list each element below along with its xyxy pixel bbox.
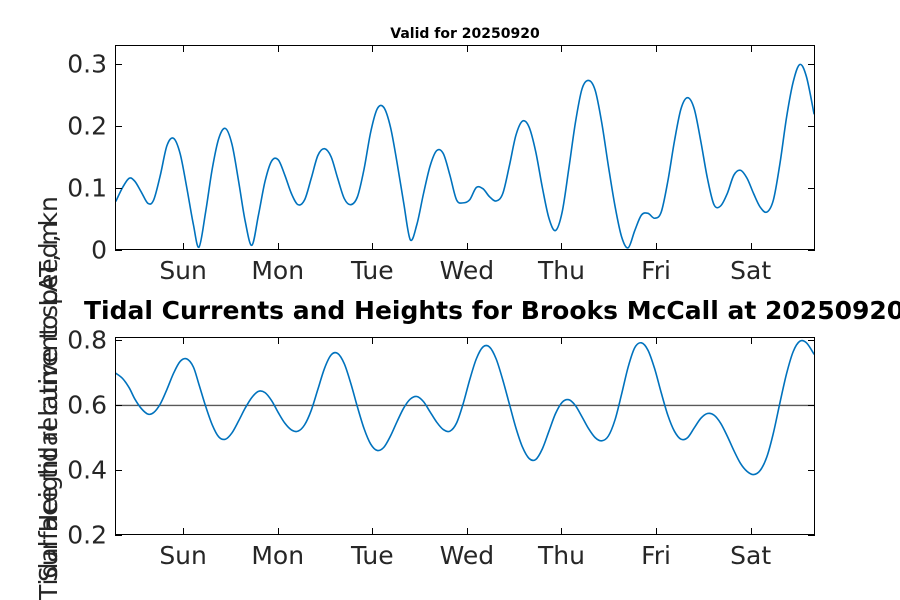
y-tick-mark xyxy=(808,535,815,536)
y-tick-label: 0.4 xyxy=(0,456,107,485)
y-tick-label: 0.8 xyxy=(0,326,107,355)
x-tick-label: Fri xyxy=(641,541,671,570)
y-tick-mark xyxy=(808,250,815,251)
x-tick-label: Mon xyxy=(251,541,304,570)
current-speed-x-tick-labels: SunMonTueWedThuFriSat xyxy=(115,256,815,290)
tidal-height-y-tick-labels: 0.20.40.60.8 xyxy=(0,337,107,535)
y-tick-mark xyxy=(115,250,122,251)
y-tick-label: 0.1 xyxy=(0,173,107,202)
y-tick-label: 0.2 xyxy=(0,111,107,140)
x-tick-label: Fri xyxy=(641,256,671,285)
current-speed-plot-area xyxy=(116,46,814,249)
x-tick-label: Thu xyxy=(538,541,585,570)
x-tick-label: Mon xyxy=(251,256,304,285)
x-tick-label: Wed xyxy=(440,541,495,570)
chart-tidal-height xyxy=(115,337,815,535)
tidal-height-plot-area xyxy=(116,338,814,534)
y-tick-label: 0.3 xyxy=(0,49,107,78)
chart-subtitle-valid-for: Valid for 20250920 xyxy=(115,26,815,42)
data-series-line xyxy=(116,341,814,475)
x-tick-label: Sun xyxy=(159,256,207,285)
current-speed-y-tick-labels: 00.10.20.3 xyxy=(0,45,107,250)
x-tick-label: Sat xyxy=(730,256,771,285)
tidal-height-x-tick-labels: SunMonTueWedThuFriSat xyxy=(115,541,815,575)
x-tick-label: Sun xyxy=(159,541,207,570)
y-tick-label: 0 xyxy=(0,236,107,265)
x-tick-label: Tue xyxy=(351,541,394,570)
y-tick-label: 0.2 xyxy=(0,521,107,550)
chart-current-speed xyxy=(115,45,815,250)
data-series-line xyxy=(116,64,814,248)
figure-main-title: Tidal Currents and Heights for Brooks Mc… xyxy=(84,296,900,325)
x-tick-label: Thu xyxy=(538,256,585,285)
figure-canvas: Surface tidal current speed, kn Tidal He… xyxy=(0,0,900,600)
y-tick-mark xyxy=(115,535,122,536)
x-tick-label: Wed xyxy=(440,256,495,285)
x-tick-label: Sat xyxy=(730,541,771,570)
y-tick-label: 0.6 xyxy=(0,391,107,420)
x-tick-label: Tue xyxy=(351,256,394,285)
